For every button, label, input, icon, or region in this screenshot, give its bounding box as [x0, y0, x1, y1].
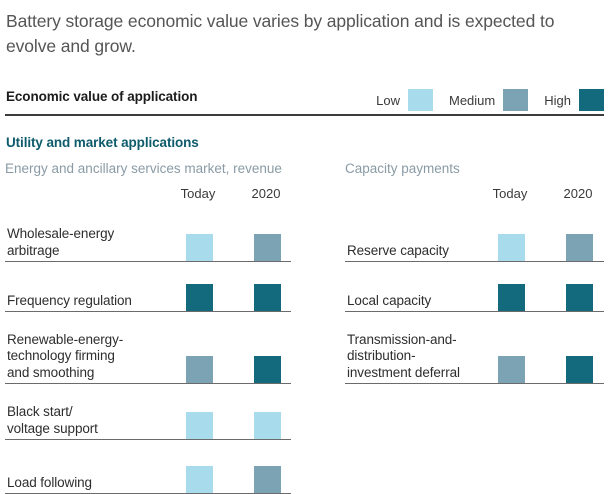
- value-bar-today: [186, 356, 213, 383]
- legend-divider: [5, 114, 604, 116]
- legend-label-low: Low: [376, 93, 400, 108]
- value-bar-2020: [254, 234, 281, 261]
- table-row[interactable]: Frequency regulation: [5, 262, 291, 312]
- value-bar-today: [498, 234, 525, 261]
- row-label: Renewable-energy-technology firmingand s…: [7, 332, 123, 382]
- axis-label-2020-left: 2020: [241, 186, 291, 201]
- table-row[interactable]: Renewable-energy-technology firmingand s…: [5, 312, 291, 384]
- table-row[interactable]: Transmission-and-distribution-investment…: [345, 312, 604, 384]
- panel-energy-ancillary: Energy and ancillary services market, re…: [5, 160, 291, 494]
- table-row[interactable]: Black start/voltage support: [5, 384, 291, 440]
- legend-swatch-medium: [503, 89, 528, 111]
- rows-right: Reserve capacityLocal capacityTransmissi…: [345, 208, 604, 384]
- axis-label-today-left: Today: [173, 186, 223, 201]
- value-bar-2020: [566, 284, 593, 311]
- legend-band: Economic value of application Low Medium…: [0, 88, 609, 116]
- legend-label-high: High: [544, 93, 571, 108]
- value-bar-2020: [254, 284, 281, 311]
- legend-swatch-high: [579, 89, 604, 111]
- table-row[interactable]: Reserve capacity: [345, 208, 604, 262]
- value-bar-today: [498, 356, 525, 383]
- legend-item-high: High: [544, 89, 604, 111]
- value-bar-2020: [566, 356, 593, 383]
- legend-swatch-low: [408, 89, 433, 111]
- table-row[interactable]: Wholesale-energyarbitrage: [5, 208, 291, 262]
- value-bar-today: [498, 284, 525, 311]
- row-label: Transmission-and-distribution-investment…: [347, 332, 460, 382]
- value-bar-today: [186, 234, 213, 261]
- value-bar-today: [186, 466, 213, 493]
- legend-item-medium: Medium: [449, 89, 528, 111]
- value-bar-2020: [566, 234, 593, 261]
- row-label: Local capacity: [347, 293, 431, 310]
- legend-item-low: Low: [376, 89, 433, 111]
- value-bar-2020: [254, 466, 281, 493]
- legend-label-medium: Medium: [449, 93, 495, 108]
- row-label: Wholesale-energyarbitrage: [7, 226, 114, 259]
- row-label: Frequency regulation: [7, 293, 132, 310]
- value-bar-2020: [254, 412, 281, 439]
- value-bar-2020: [254, 356, 281, 383]
- legend-items: Low Medium High: [360, 88, 604, 112]
- row-label: Load following: [7, 475, 92, 492]
- panel-subtitle-right: Capacity payments: [345, 160, 604, 182]
- panel-subtitle-left: Energy and ancillary services market, re…: [5, 160, 291, 182]
- axis-header-left: Today 2020: [5, 182, 291, 208]
- row-label: Black start/voltage support: [7, 404, 98, 437]
- rows-left: Wholesale-energyarbitrageFrequency regul…: [5, 208, 291, 494]
- table-row[interactable]: Local capacity: [345, 262, 604, 312]
- page-title: Battery storage economic value varies by…: [6, 9, 586, 59]
- legend-title: Economic value of application: [6, 89, 197, 104]
- table-row[interactable]: Load following: [5, 440, 291, 494]
- row-label: Reserve capacity: [347, 243, 449, 260]
- value-bar-today: [186, 284, 213, 311]
- axis-header-right: Today 2020: [345, 182, 604, 208]
- axis-label-2020-right: 2020: [553, 186, 603, 201]
- section-heading: Utility and market applications: [6, 135, 199, 150]
- panel-capacity-payments: Capacity payments Today 2020 Reserve cap…: [345, 160, 604, 384]
- axis-label-today-right: Today: [485, 186, 535, 201]
- value-bar-today: [186, 412, 213, 439]
